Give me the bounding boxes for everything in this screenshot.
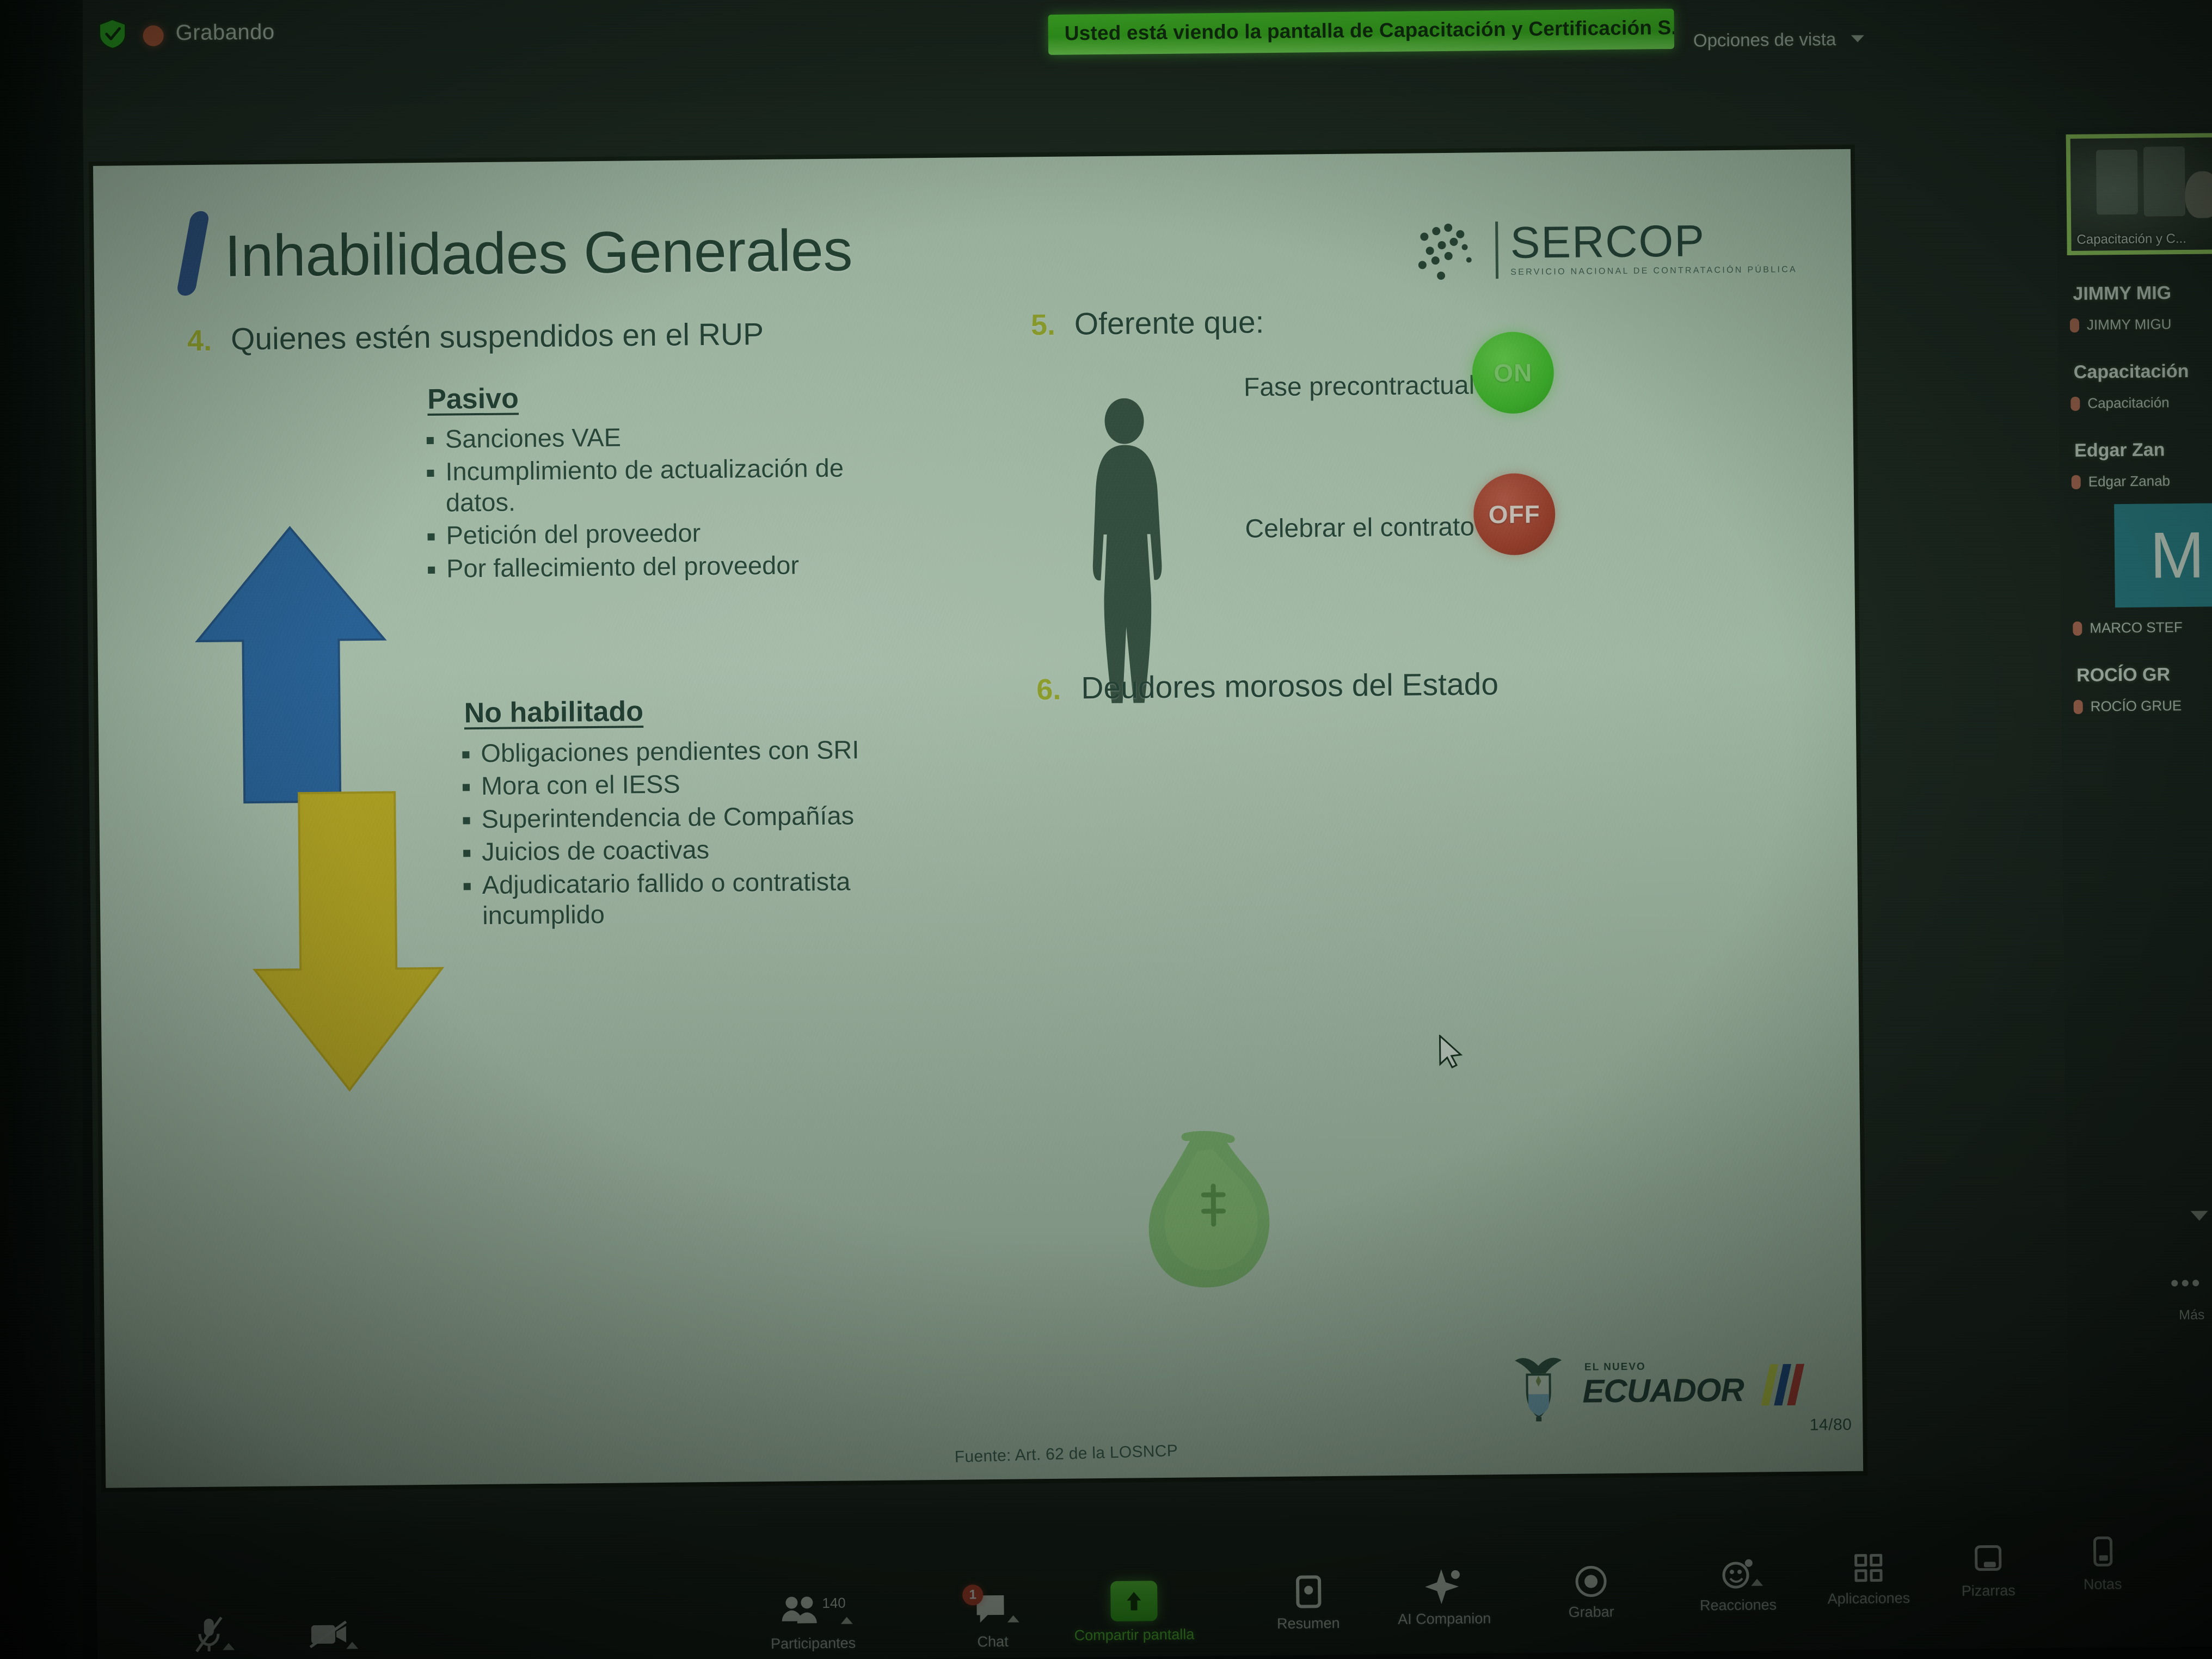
list-item: Mora con el IESS xyxy=(458,767,916,802)
logo-divider xyxy=(1495,222,1498,279)
ellipsis-icon[interactable]: ••• xyxy=(2170,1270,2202,1298)
participant-header: Capacitación xyxy=(2074,360,2212,383)
mouse-pointer-icon xyxy=(1437,1035,1463,1068)
toggle-label-precontractual: Fase precontractual xyxy=(1244,370,1475,402)
item-text-4: Quienes estén suspendidos en el RUP xyxy=(231,316,764,357)
participant-header: ROCÍO GR xyxy=(2076,663,2212,686)
list-item: Obligaciones pendientes con SRI xyxy=(458,734,915,769)
toggle-on-badge: ON xyxy=(1472,331,1554,414)
participants-sidebar[interactable]: Capacitación y C... JIMMY MIG JIMMY MIGU… xyxy=(2056,126,2212,1461)
apps-button[interactable]: Aplicaciones xyxy=(1805,1544,1931,1608)
mic-muted-icon xyxy=(2070,396,2080,410)
recording-label: Grabando xyxy=(175,20,274,46)
list-item: Superintendencia de Compañías xyxy=(458,800,916,834)
chat-button[interactable]: 1 Chat xyxy=(930,1587,1055,1651)
chevron-up-icon[interactable] xyxy=(841,1617,853,1624)
video-person xyxy=(2185,171,2212,218)
notes-button[interactable]: Notas xyxy=(2039,1529,2165,1593)
block-heading-pasivo: Pasivo xyxy=(427,382,519,416)
ecuador-big-text: ECUADOR xyxy=(1582,1371,1744,1410)
apps-icon[interactable] xyxy=(1851,1544,1885,1585)
monitor-photo: Grabando Usted está viendo la pantalla d… xyxy=(0,0,2212,1659)
participant-row[interactable]: Capacitación xyxy=(2070,394,2212,412)
participant-row[interactable]: ROCÍO GRUE xyxy=(2074,697,2212,715)
item-number-4: 4. xyxy=(187,324,212,358)
reactions-button[interactable]: Reacciones xyxy=(1675,1551,1801,1614)
blue-up-arrow-icon xyxy=(192,523,390,807)
share-screen-label: Compartir pantalla xyxy=(1074,1626,1195,1644)
sercop-wordmark: SERCOP xyxy=(1510,219,1797,264)
mic-button[interactable] xyxy=(146,1615,272,1656)
reactions-icon[interactable] xyxy=(1721,1551,1756,1592)
source-note: Fuente: Art. 62 de la LOSNCP xyxy=(954,1442,1178,1467)
sercop-logo: SERCOP SERVICIO NACIONAL DE CONTRATACIÓN… xyxy=(1418,215,1797,283)
shield-check-icon[interactable] xyxy=(98,18,127,50)
ai-companion-label: AI Companion xyxy=(1398,1610,1491,1628)
toggle-off-badge: OFF xyxy=(1473,473,1556,555)
participants-button[interactable]: 140 Participantes xyxy=(750,1589,876,1652)
chat-icon[interactable]: 1 xyxy=(973,1588,1012,1629)
view-options-button[interactable]: Opciones de vista xyxy=(1693,29,1836,51)
video-shape xyxy=(2096,149,2138,214)
item-number-6: 6. xyxy=(1036,673,1061,706)
item-number-5: 5. xyxy=(1031,308,1056,342)
participant-count: 140 xyxy=(822,1595,845,1611)
participant-header: JIMMY MIG xyxy=(2073,282,2212,305)
summary-label: Resumen xyxy=(1277,1615,1340,1632)
mic-muted-icon xyxy=(2070,318,2079,332)
presentation-slide: Inhabilidades Generales SERCOP xyxy=(93,149,1863,1488)
sercop-subtitle: SERVICIO NACIONAL DE CONTRATACIÓN PÚBLIC… xyxy=(1510,265,1797,278)
ecuador-coat-of-arms-icon xyxy=(1508,1351,1569,1423)
zoom-top-bar: Grabando Usted está viendo la pantalla d… xyxy=(82,0,2212,107)
avatar[interactable]: M xyxy=(2114,503,2212,607)
reactions-label: Reacciones xyxy=(1700,1596,1777,1614)
screen-share-banner-text: Usted está viendo la pantalla de Capacit… xyxy=(1065,16,1675,45)
active-speaker-tile[interactable]: Capacitación y C... xyxy=(2066,133,2212,255)
avatar-letter: M xyxy=(2149,518,2204,593)
video-shape xyxy=(2143,146,2185,216)
participant-name: Edgar Zanab xyxy=(2088,472,2171,490)
share-screen-icon[interactable] xyxy=(1110,1581,1158,1621)
sercop-dot-grid-icon xyxy=(1418,218,1484,282)
slide-title: Inhabilidades Generales xyxy=(224,216,852,290)
chevron-up-icon[interactable] xyxy=(346,1642,358,1649)
list-item: Sanciones VAE xyxy=(422,420,858,454)
mic-muted-icon[interactable] xyxy=(191,1615,228,1656)
ai-companion-button[interactable]: AI Companion xyxy=(1381,1564,1507,1628)
whiteboard-icon[interactable] xyxy=(1971,1537,2005,1577)
chat-label: Chat xyxy=(977,1633,1008,1651)
participant-name: MARCO STEF xyxy=(2090,619,2183,637)
participants-icon[interactable]: 140 xyxy=(781,1589,845,1630)
participant-name: Capacitación xyxy=(2087,394,2170,411)
shared-screen-frame: Inhabilidades Generales SERCOP xyxy=(89,145,1867,1492)
notes-icon[interactable] xyxy=(2088,1530,2117,1570)
screen-content: Grabando Usted está viendo la pantalla d… xyxy=(82,0,2212,1659)
list-item: Petición del proveedor xyxy=(423,517,859,551)
participant-row[interactable]: Edgar Zanab xyxy=(2072,472,2212,490)
blue-slash-accent-icon xyxy=(176,211,210,296)
mic-muted-icon xyxy=(2072,475,2081,489)
list-item: Adjudicatario fallido o contratista incu… xyxy=(459,865,917,931)
apps-label: Aplicaciones xyxy=(1827,1590,1910,1607)
list-item: Por fallecimiento del proveedor xyxy=(423,549,859,584)
item-text-6: Deudores morosos del Estado xyxy=(1081,666,1498,706)
sidebar-more-label: Más xyxy=(2179,1307,2205,1323)
mic-muted-icon xyxy=(2074,699,2083,714)
money-bag-icon xyxy=(1126,1129,1291,1305)
ai-sparkle-icon[interactable] xyxy=(1425,1565,1464,1606)
screen-share-banner[interactable]: Usted está viendo la pantalla de Capacit… xyxy=(1048,9,1674,55)
slide-page-number: 14/80 xyxy=(1810,1416,1852,1435)
chat-badge: 1 xyxy=(962,1584,983,1605)
ecuador-small-text: EL NUEVO xyxy=(1584,1361,1646,1373)
toggle-label-celebrar: Celebrar el contrato xyxy=(1245,512,1474,544)
ecuador-logo: EL NUEVO ECUADOR xyxy=(1508,1349,1801,1423)
record-label: Grabar xyxy=(1568,1603,1614,1621)
whiteboard-button[interactable]: Pizarras xyxy=(1925,1536,2051,1600)
participants-label: Participantes xyxy=(771,1635,856,1652)
summary-button[interactable]: Resumen xyxy=(1245,1569,1371,1632)
notes-label: Notas xyxy=(2084,1576,2122,1593)
video-off-icon[interactable] xyxy=(307,1614,351,1655)
chevron-up-icon[interactable] xyxy=(223,1643,235,1650)
chevron-down-icon[interactable] xyxy=(1851,35,1864,42)
chevron-up-icon[interactable] xyxy=(1007,1615,1019,1623)
chevron-up-icon[interactable] xyxy=(1751,1578,1763,1586)
active-speaker-name: Capacitación y C... xyxy=(2076,231,2186,248)
participant-header: Edgar Zan xyxy=(2074,439,2212,462)
yellow-down-arrow-icon xyxy=(249,789,447,1095)
participant-row[interactable]: MARCO STEF xyxy=(2073,618,2212,637)
monitor-bezel xyxy=(0,0,83,1659)
record-button[interactable]: Grabar xyxy=(1528,1557,1654,1621)
participant-name: ROCÍO GRUE xyxy=(2091,697,2182,715)
item-text-5: Oferente que: xyxy=(1074,304,1264,342)
zoom-toolbar: 140 Participantes 1 Chat xyxy=(96,1466,2212,1659)
chevron-down-icon[interactable] xyxy=(2191,1211,2208,1221)
list-item: Juicios de coactivas xyxy=(459,833,917,868)
participant-row[interactable]: JIMMY MIGU xyxy=(2070,315,2212,334)
mic-muted-icon xyxy=(2073,621,2082,635)
summary-icon[interactable] xyxy=(1291,1569,1325,1610)
list-item: Incumplimiento de actualización de datos… xyxy=(422,453,858,518)
block-bullets-no-habilitado: Obligaciones pendientes con SRI Mora con… xyxy=(458,734,917,933)
share-screen-button[interactable]: Compartir pantalla xyxy=(1071,1580,1197,1644)
whiteboard-label: Pizarras xyxy=(1962,1582,2016,1600)
participant-name: JIMMY MIGU xyxy=(2087,316,2172,333)
record-icon[interactable] xyxy=(1574,1558,1608,1599)
record-dot-icon xyxy=(143,26,164,46)
block-bullets-pasivo: Sanciones VAE Incumplimiento de actualiz… xyxy=(422,420,859,586)
video-button[interactable] xyxy=(266,1614,392,1655)
ecuador-stripes-icon xyxy=(1765,1364,1800,1406)
block-heading-no-habilitado: No habilitado xyxy=(464,695,643,729)
